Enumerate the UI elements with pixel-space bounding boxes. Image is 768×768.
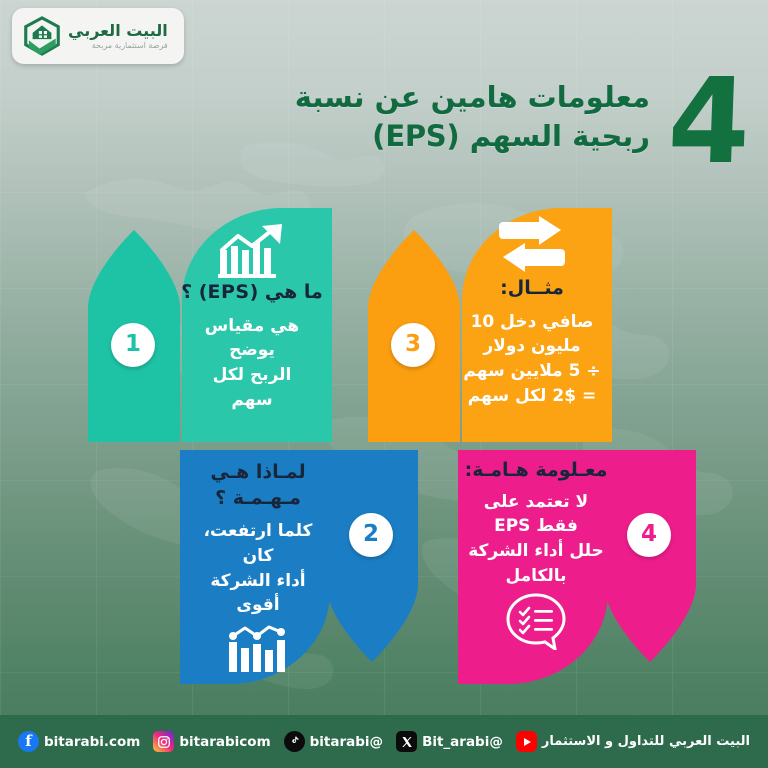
card-3-number: 3 xyxy=(405,333,421,356)
bar-chart-growth-icon xyxy=(214,224,290,278)
card-1-body-line-2: يوضح xyxy=(176,338,328,363)
card-4-body-line-3: حلل أداء الشركة xyxy=(460,539,612,564)
page-title: معلومات هامين عن نسبة ربحية السهم (EPS) xyxy=(130,78,650,156)
brand-name: البيت العربي xyxy=(68,23,168,39)
card-3-body-line-1: صافي دخل 10 xyxy=(456,310,608,335)
social-footer: f bitarabi.com bitarabicom bitarabi@ xyxy=(0,715,768,768)
card-3-body-line-4: = 2$ لكل سهم xyxy=(456,384,608,409)
exchange-arrows-icon xyxy=(497,216,567,272)
footer-label-tiktok: bitarabi@ xyxy=(310,734,383,750)
card-4-number: 4 xyxy=(641,523,657,546)
card-4-body-line-4: بالكامل xyxy=(460,564,612,589)
card-1-number-circle: 1 xyxy=(111,323,155,367)
footer-item-x[interactable]: Bit_arabi@ xyxy=(396,731,503,752)
card-4-icon-wrap xyxy=(460,592,612,650)
card-3-icon-wrap xyxy=(456,216,608,272)
card-4-body-line-2: فقط EPS xyxy=(460,514,612,539)
footer-label-x: Bit_arabi@ xyxy=(422,734,503,750)
footer-label-instagram: bitarabicom xyxy=(179,734,270,750)
footer-label-youtube: البيت العربي للتداول و الاستثمار xyxy=(542,734,750,749)
chat-checklist-icon xyxy=(505,592,567,650)
card-2-icon-wrap xyxy=(182,622,334,674)
card-2-title: لمـاذا هـي مـهـمـة ؟ xyxy=(182,460,334,511)
card-2-body-line-3: أداء الشركة xyxy=(182,569,334,594)
card-4-title-text: معـلومة هـامـة: xyxy=(460,458,612,484)
card-3-number-circle: 3 xyxy=(391,323,435,367)
facebook-icon: f xyxy=(18,731,39,752)
card-2-body-line-2: كان xyxy=(182,544,334,569)
card-2-body-line-4: أقوى xyxy=(182,593,334,618)
page-title-line-2: ربحية السهم (EPS) xyxy=(130,117,650,156)
bar-chart-line-icon xyxy=(225,622,291,674)
card-1-body-line-4: سهم xyxy=(176,388,328,413)
card-1-number: 1 xyxy=(125,333,141,356)
instagram-icon xyxy=(153,731,174,752)
house-hexagon-icon xyxy=(22,16,62,56)
footer-label-facebook: bitarabi.com xyxy=(44,734,140,750)
card-3-content: مثــال: صافي دخل 10 مليون دولار ÷ 5 ملاي… xyxy=(456,216,608,408)
card-2-body-line-1: كلما ارتفعت، xyxy=(182,519,334,544)
tiktok-icon xyxy=(284,731,305,752)
footer-item-tiktok[interactable]: bitarabi@ xyxy=(284,731,383,752)
card-1-body-line-3: الربح لكل xyxy=(176,363,328,388)
card-4-content: معـلومة هـامـة: لا تعتمد على فقط EPS حلل… xyxy=(460,458,612,650)
card-3-body-line-2: مليون دولار xyxy=(456,334,608,359)
footer-item-youtube[interactable]: البيت العربي للتداول و الاستثمار xyxy=(516,731,750,752)
card-3-body: صافي دخل 10 مليون دولار ÷ 5 ملايين سهم =… xyxy=(456,310,608,409)
x-twitter-icon xyxy=(396,731,417,752)
card-1-title: ما هي (EPS) ؟ xyxy=(176,280,328,306)
card-4-body-line-1: لا تعتمد على xyxy=(460,490,612,515)
brand-tagline: فرصة استثمارية مربحة xyxy=(68,42,168,50)
card-2-content: لمـاذا هـي مـهـمـة ؟ كلما ارتفعت، كان أد… xyxy=(182,460,334,674)
card-1-content: ما هي (EPS) ؟ هي مقياس يوضح الربح لكل سه… xyxy=(176,224,328,412)
card-4-number-circle: 4 xyxy=(627,513,671,557)
footer-item-facebook[interactable]: f bitarabi.com xyxy=(18,731,140,752)
card-4-title: معـلومة هـامـة: xyxy=(460,458,612,484)
card-4-body: لا تعتمد على فقط EPS حلل أداء الشركة بال… xyxy=(460,490,612,589)
card-1-body-line-1: هي مقياس xyxy=(176,314,328,339)
card-1-icon-wrap xyxy=(176,224,328,278)
card-3-body-line-3: ÷ 5 ملايين سهم xyxy=(456,359,608,384)
brand-logo[interactable]: البيت العربي فرصة استثمارية مربحة xyxy=(12,8,184,64)
card-1-body: هي مقياس يوضح الربح لكل سهم xyxy=(176,314,328,413)
card-2-number-circle: 2 xyxy=(349,513,393,557)
headline-number: 4 xyxy=(666,62,752,180)
infographic-poster: البيت العربي فرصة استثمارية مربحة 4 معلو… xyxy=(0,0,768,768)
card-3-title: مثــال: xyxy=(456,276,608,302)
page-title-line-1: معلومات هامين عن نسبة xyxy=(130,78,650,117)
card-2-body: كلما ارتفعت، كان أداء الشركة أقوى xyxy=(182,519,334,618)
youtube-icon xyxy=(516,731,537,752)
footer-item-instagram[interactable]: bitarabicom xyxy=(153,731,270,752)
card-2-number: 2 xyxy=(363,523,379,546)
